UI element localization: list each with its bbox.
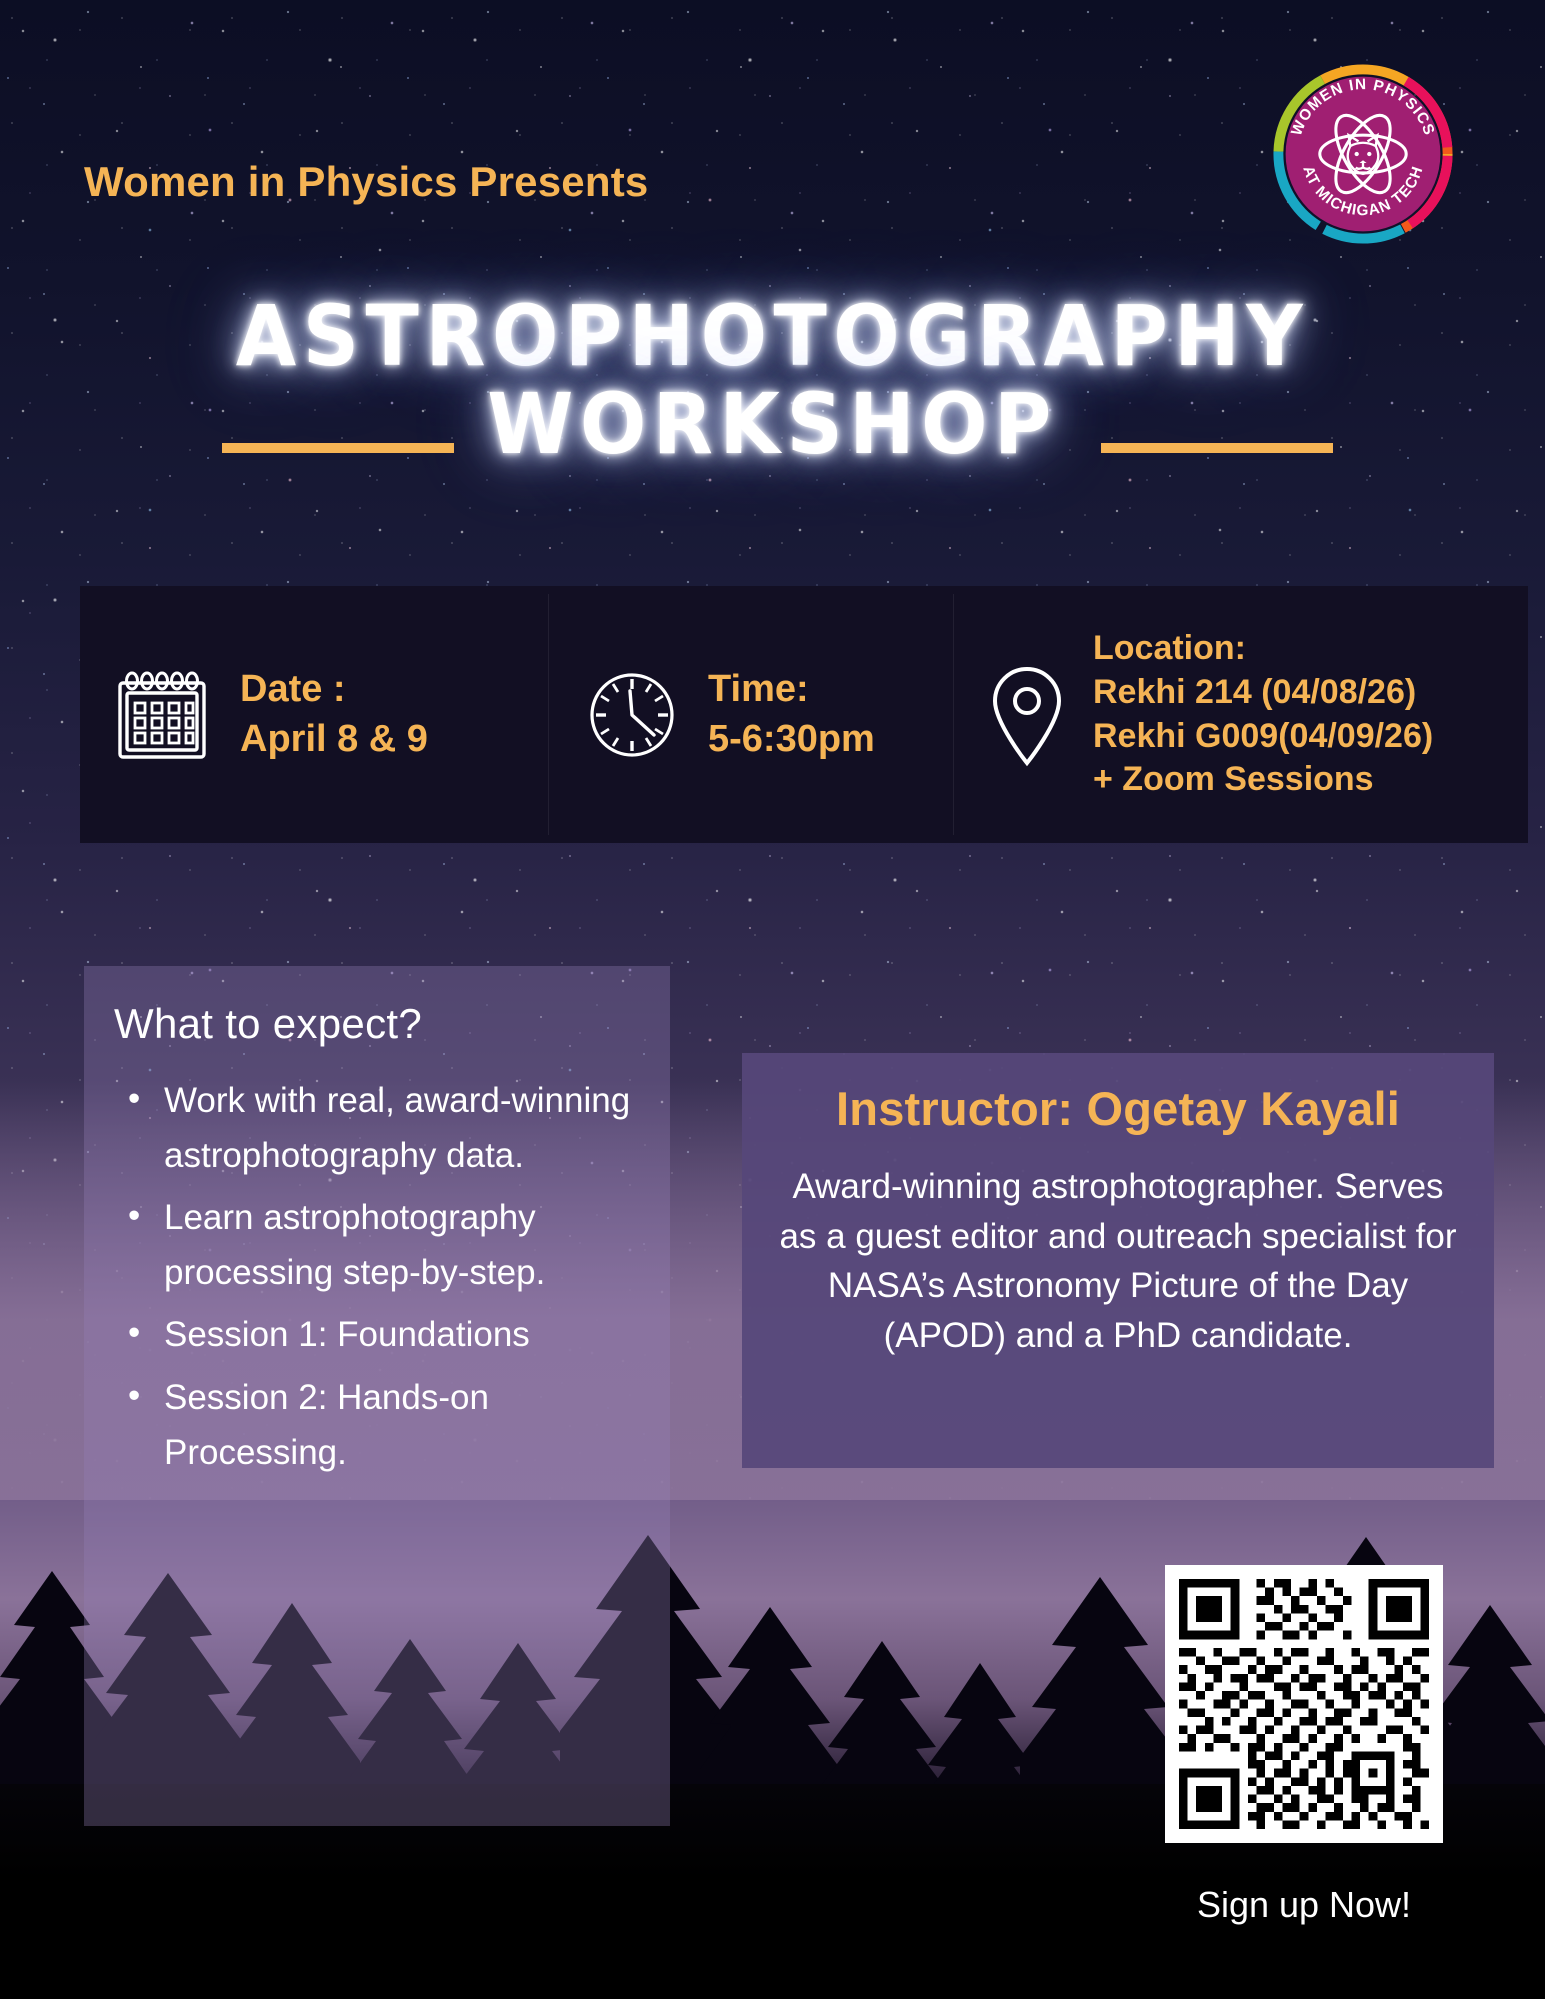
time-text-block: Time: 5-6:30pm (708, 665, 875, 764)
info-location-column: Location: Rekhi 214 (04/08/26) Rekhi G00… (953, 586, 1528, 843)
instructor-bio: Award-winning astrophotographer. Serves … (772, 1162, 1464, 1361)
clock-icon (582, 665, 682, 765)
location-label: Location: (1093, 627, 1433, 671)
date-label: Date : (240, 665, 428, 714)
location-line-1: Rekhi 214 (04/08/26) (1093, 671, 1433, 715)
location-line-2: Rekhi G009(04/09/26) (1093, 715, 1433, 759)
presents-line: Women in Physics Presents (84, 158, 648, 206)
list-item: Session 2: Hands-on Processing. (114, 1371, 640, 1480)
map-pin-icon (983, 661, 1071, 769)
info-time-column: Time: 5-6:30pm (548, 586, 953, 843)
date-text-block: Date : April 8 & 9 (240, 665, 428, 764)
title-rule-left (222, 443, 454, 453)
title-line-2: WORKSHOP (54, 383, 1491, 465)
what-to-expect-panel: What to expect? Work with real, award-wi… (84, 966, 670, 1826)
title-line-1: ASTROPHOTOGRAPHY (54, 295, 1491, 377)
what-to-expect-heading: What to expect? (114, 1000, 640, 1048)
what-to-expect-list: Work with real, award-winning astrophoto… (114, 1074, 640, 1480)
list-item: Work with real, award-winning astrophoto… (114, 1074, 640, 1183)
time-label: Time: (708, 665, 875, 714)
location-line-3: + Zoom Sessions (1093, 758, 1433, 802)
list-item: Learn astrophotography processing step-b… (114, 1191, 640, 1300)
time-value: 5-6:30pm (708, 715, 875, 764)
date-value: April 8 & 9 (240, 715, 428, 764)
column-divider (548, 594, 549, 835)
poster-title: ASTROPHOTOGRAPHY WORKSHOP (0, 295, 1545, 466)
signup-caption: Sign up Now! (1165, 1884, 1443, 1926)
column-divider (953, 594, 954, 835)
women-in-physics-logo: WOMEN IN PHYSICS AT MICHIGAN TECH (1273, 64, 1453, 244)
event-info-bar: Date : April 8 & 9 (80, 586, 1528, 843)
location-text-block: Location: Rekhi 214 (04/08/26) Rekhi G00… (1093, 627, 1433, 801)
poster: Women in Physics Presents WOMEN IN PHYSI… (0, 0, 1545, 1999)
signup-qr-code[interactable] (1165, 1565, 1443, 1843)
calendar-icon (110, 663, 214, 767)
instructor-panel: Instructor: Ogetay Kayali Award-winning … (742, 1053, 1494, 1468)
info-date-column: Date : April 8 & 9 (80, 586, 548, 843)
qr-code-icon (1179, 1579, 1429, 1829)
instructor-heading: Instructor: Ogetay Kayali (772, 1081, 1464, 1136)
title-rule-right (1101, 443, 1333, 453)
list-item: Session 1: Foundations (114, 1308, 640, 1363)
